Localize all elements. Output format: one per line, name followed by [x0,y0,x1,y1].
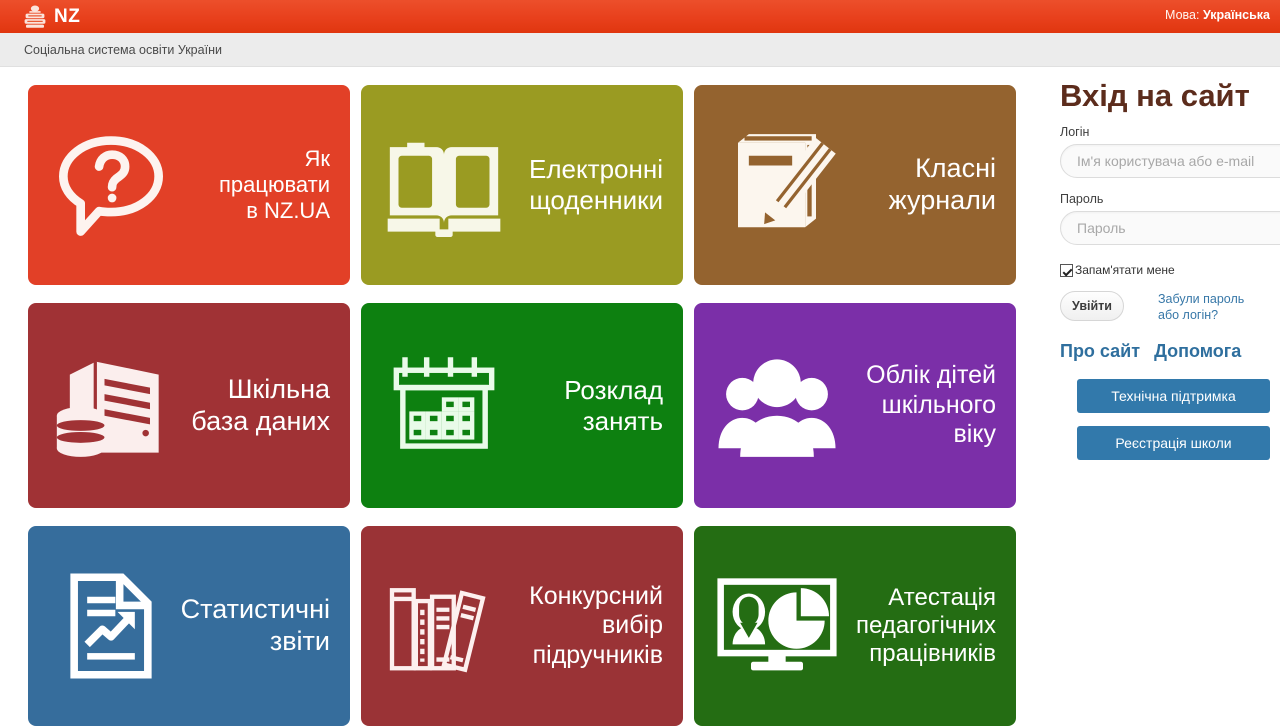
tile-electronic-diaries[interactable]: Електронні щоденники [361,85,683,285]
document-chart-icon [46,566,176,686]
question-speech-bubble-icon [46,125,176,245]
tile-label: Атестація педагогічних працівників [842,584,1016,669]
calendar-icon [379,346,509,466]
remember-me-checkbox[interactable] [1060,264,1073,277]
tile-how-to-work[interactable]: Як працювати в NZ.UA [28,85,350,285]
password-field-label: Пароль [1060,192,1280,206]
people-group-icon [712,346,842,466]
tile-label: Конкурсний вибір підручників [509,582,683,671]
tile-class-journals[interactable]: Класні журнали [694,85,1016,285]
tile-class-schedule[interactable]: Розклад занять [361,303,683,508]
server-database-icon [46,346,176,466]
site-tagline: Соціальна система освіти України [24,43,222,57]
logo-text: NZ [54,7,80,26]
language-selector[interactable]: Мова: Українська [1165,8,1270,22]
tile-teacher-certification[interactable]: Атестація педагогічних працівників [694,526,1016,726]
language-label: Мова: [1165,8,1199,22]
books-shelf-icon [379,566,509,686]
tile-school-age-children[interactable]: Облік дітей шкільного віку [694,303,1016,508]
tile-label: Як працювати в NZ.UA [176,146,350,224]
header-bar: NZ Мова: Українська [0,0,1280,33]
about-site-link[interactable]: Про сайт [1060,341,1140,362]
login-field-group: Логін [1060,125,1280,178]
tile-label: Облік дітей шкільного віку [842,361,1016,450]
notebook-pencil-icon [712,125,842,245]
password-field-group: Пароль [1060,192,1280,245]
login-actions: Увійти Забули пароль або логін? [1060,291,1280,323]
subheader-bar: Соціальна система освіти України [0,33,1280,67]
login-title: Вхід на сайт [1060,80,1280,111]
open-book-bookmark-icon [379,125,509,245]
login-submit-button[interactable]: Увійти [1060,291,1124,321]
forgot-password-link[interactable]: Забули пароль або логін? [1158,292,1244,323]
tile-label: Шкільна база даних [176,374,350,438]
tile-textbook-selection[interactable]: Конкурсний вибір підручників [361,526,683,726]
technical-support-button[interactable]: Технічна підтримка [1077,379,1270,413]
remember-me-row[interactable]: Запам'ятати мене [1060,263,1280,277]
remember-me-label: Запам'ятати мене [1075,263,1175,277]
books-stack-icon [22,4,48,30]
service-tiles-grid: Як працювати в NZ.UA Електронні щоденн [28,85,1024,726]
help-link[interactable]: Допомога [1154,341,1241,362]
tile-statistical-reports[interactable]: Статистичні звіти [28,526,350,726]
monitor-person-piechart-icon [712,566,842,686]
tile-label: Статистичні звіти [176,594,350,658]
login-panel: Вхід на сайт Логін Пароль Запам'ятати ме… [1060,80,1280,460]
tile-label: Електронні щоденники [509,154,683,215]
school-registration-button[interactable]: Реєстрація школи [1077,426,1270,460]
logo[interactable]: NZ [22,4,80,30]
login-field-label: Логін [1060,125,1280,139]
secondary-nav-links: Про сайт Допомога [1060,341,1280,362]
tile-school-database[interactable]: Шкільна база даних [28,303,350,508]
login-input[interactable] [1060,144,1280,178]
language-value: Українська [1203,8,1270,22]
tile-label: Розклад занять [509,375,683,436]
tile-label: Класні журнали [842,153,1016,217]
password-input[interactable] [1060,211,1280,245]
